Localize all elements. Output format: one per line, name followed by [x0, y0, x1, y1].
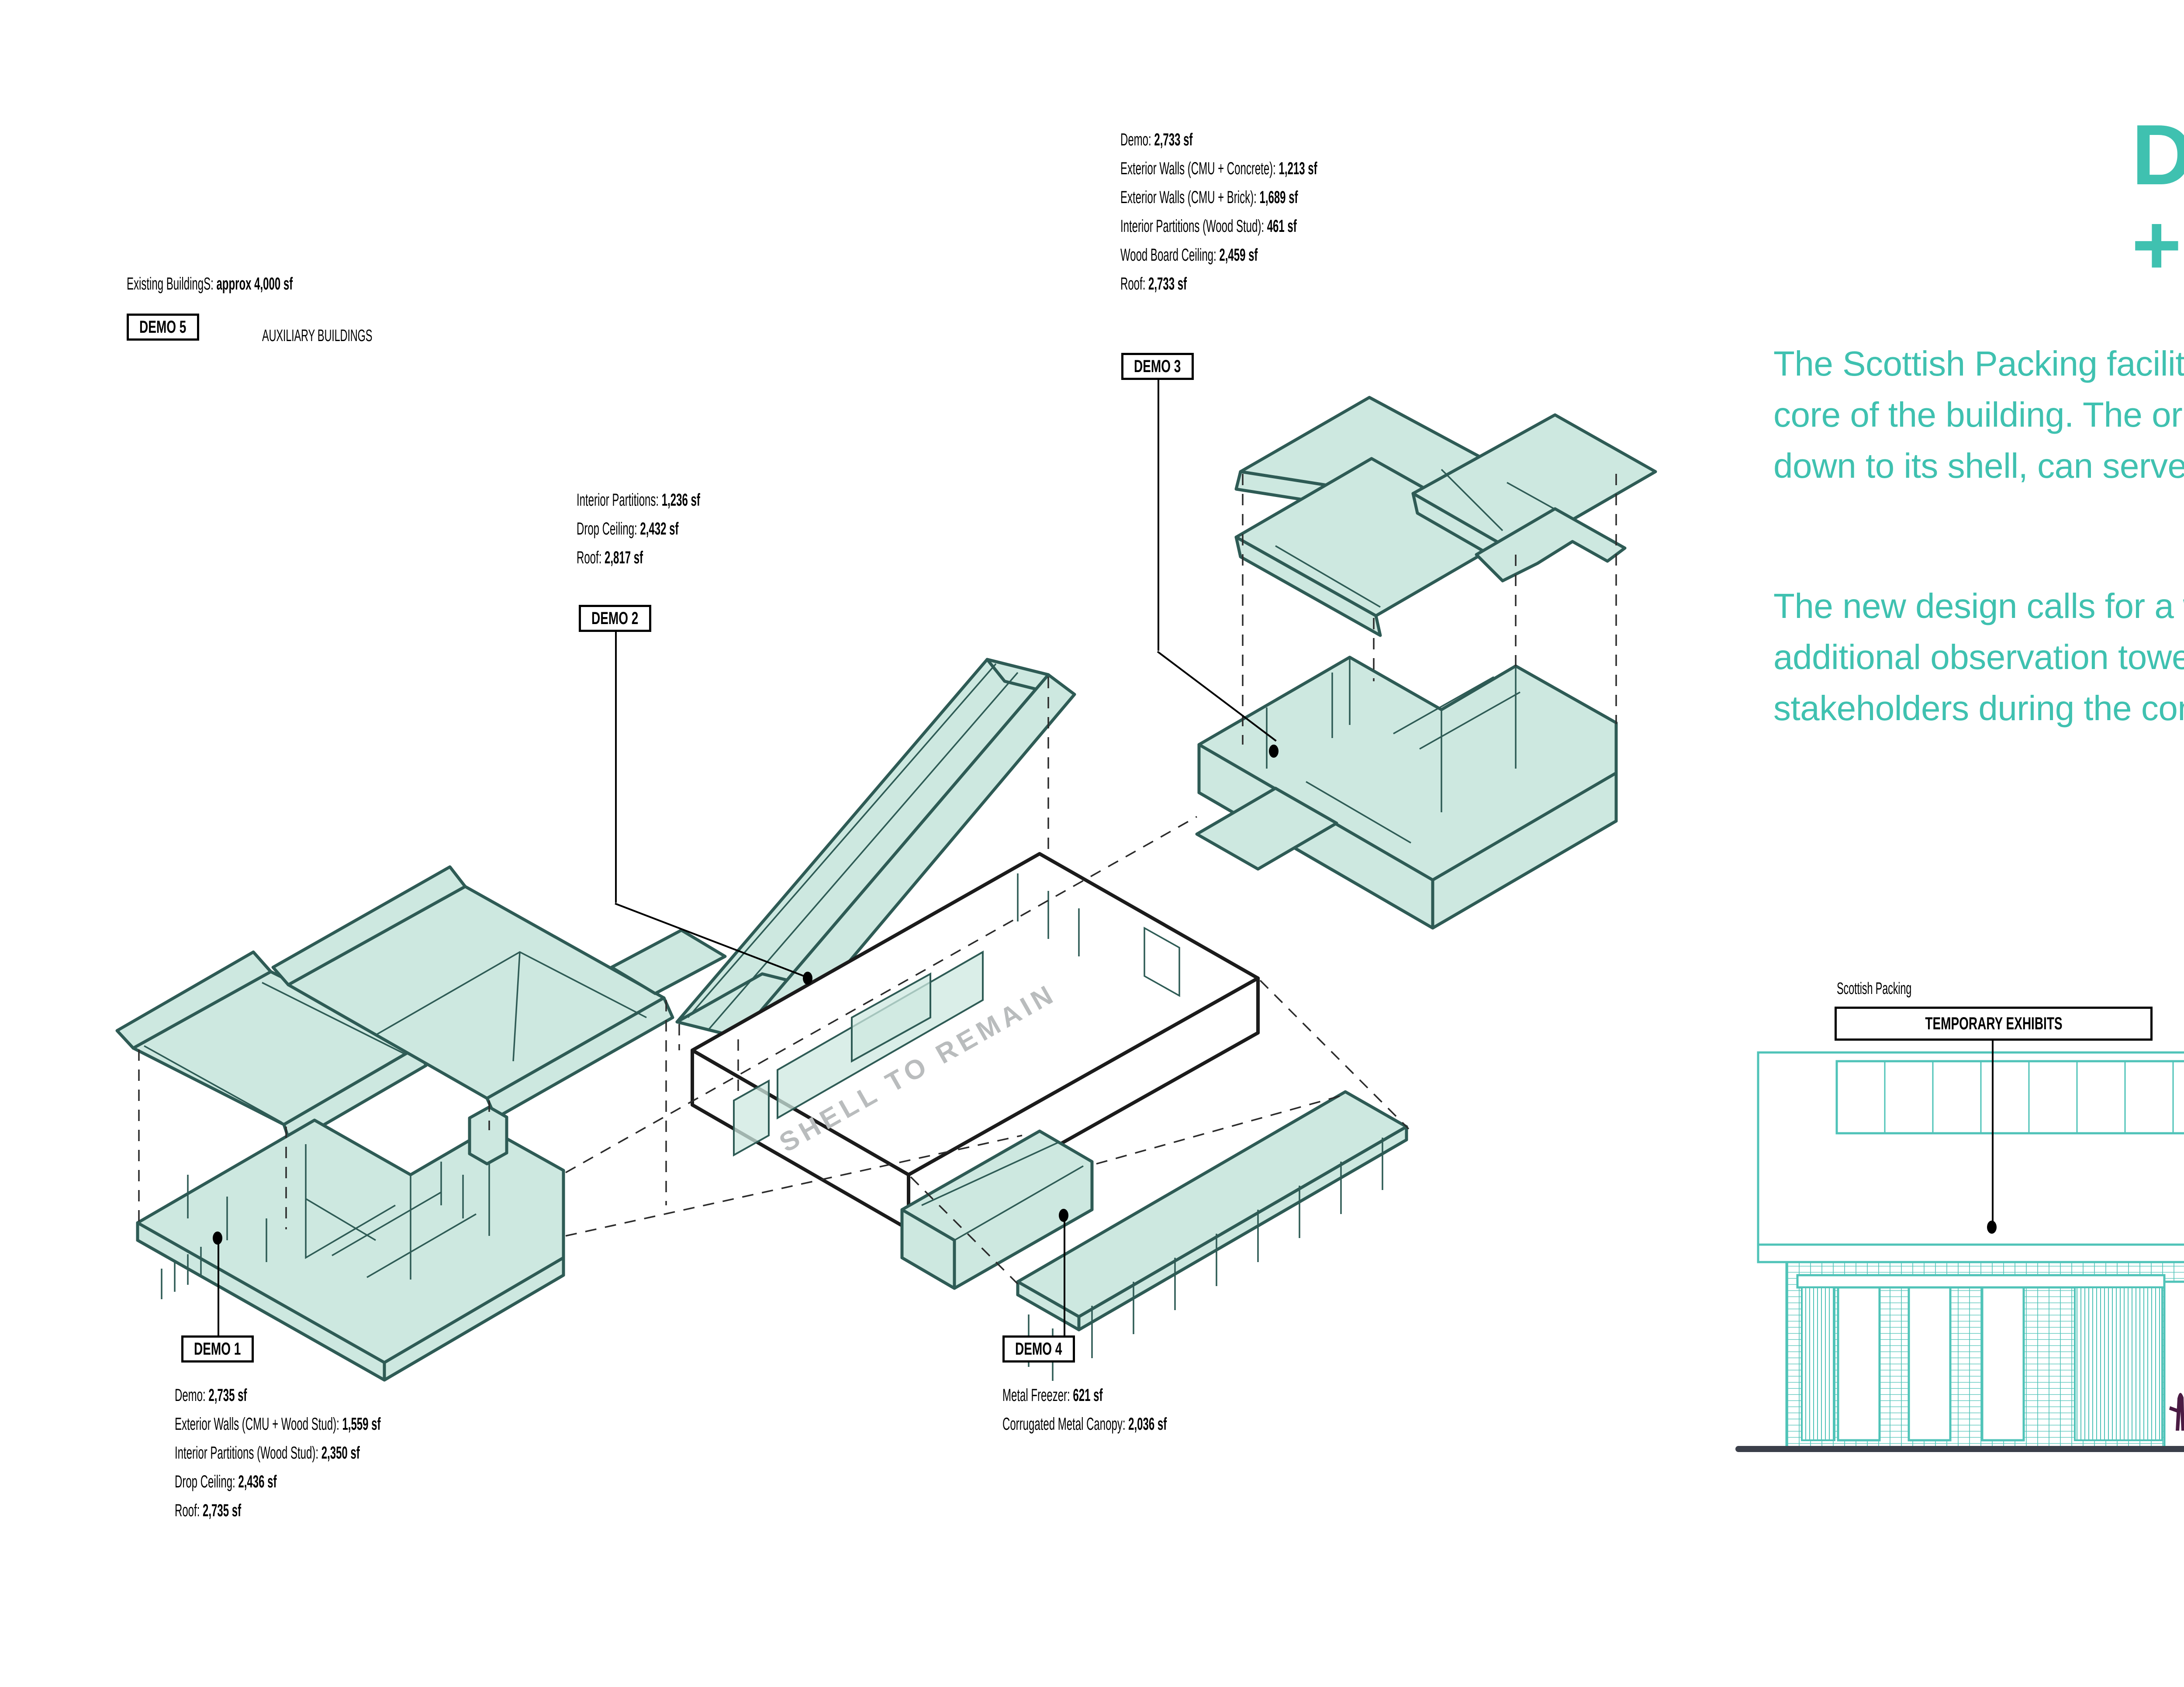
demo3-spec-value: 2,733 sf [1154, 130, 1192, 149]
demo1-tag[interactable]: DEMO 1 [181, 1335, 254, 1363]
demo1-leader-vertical [218, 1242, 219, 1336]
demo4-spec-row: Metal Freezer: 621 sf [1002, 1387, 1167, 1404]
demo5-tag[interactable]: DEMO 5 [127, 314, 199, 341]
demo2-spec-row: Drop Ceiling: 2,432 sf [577, 520, 700, 538]
demo3-spec-label: Wood Board Ceiling: [1120, 245, 1216, 265]
demo2-spec-label: Interior Partitions: [577, 490, 659, 510]
demo2-spec-row: Roof: 2,817 sf [577, 549, 700, 566]
demo5-existing-label: Existing BuildingS: [127, 274, 214, 293]
demo2-spec-value: 2,817 sf [605, 548, 643, 567]
demo1-leader-dot [213, 1232, 222, 1245]
demo1-spec-label: Roof: [175, 1501, 200, 1520]
design-paragraph-part-1: The new design calls for a [1773, 586, 2183, 625]
demo3-spec-row: Wood Board Ceiling: 2,459 sf [1120, 246, 1317, 264]
demo4-tag[interactable]: DEMO 4 [1002, 1335, 1075, 1363]
callout-sub-scottish-packing-top: Scottish Packing [1837, 980, 1911, 997]
demo2-annotation: Interior Partitions: 1,236 sf Drop Ceili… [577, 491, 782, 578]
presentation-board: .f{fill:#CDE8E0;stroke:#2E5B55;stroke-wi… [0, 0, 2184, 1687]
demo1-spec-label: Interior Partitions (Wood Stud): [175, 1443, 318, 1463]
demo2-spec-label: Roof: [577, 548, 601, 567]
demo3-spec-row: Roof: 2,733 sf [1120, 275, 1317, 293]
demo5-existing-line: Existing BuildingS: approx 4,000 sf [127, 275, 293, 293]
callout-temporary-exhibits[interactable]: TEMPORARY EXHIBITS [1835, 1007, 2153, 1041]
demo3-spec-value: 2,459 sf [1219, 245, 1258, 265]
callout-temporary-exhibits-dot [1987, 1221, 1997, 1234]
demo4-annotation: Metal Freezer: 621 sf Corrugated Metal C… [1002, 1387, 1276, 1444]
callout-temporary-exhibits-leader [1992, 1041, 1994, 1228]
scottish-packing-building [1758, 1052, 2184, 1450]
demo4-leader-vertical [1064, 1218, 1065, 1335]
demo4-spec-label: Corrugated Metal Canopy: [1002, 1414, 1125, 1434]
demo4-spec-row: Corrugated Metal Canopy: 2,036 sf [1002, 1415, 1167, 1433]
demo3-spec-row: Exterior Walls (CMU + Concrete): 1,213 s… [1120, 160, 1317, 177]
demo2-leader-vertical [615, 632, 617, 903]
demo1-tag-label: DEMO 1 [194, 1339, 241, 1359]
demo2-spec-row: Interior Partitions: 1,236 sf [577, 491, 700, 509]
demo3-tag-label: DEMO 3 [1134, 357, 1181, 376]
demo2-spec-value: 2,432 sf [640, 519, 678, 538]
site-section-elevation: .tl{fill:none;stroke:#4FC3B8;stroke-widt… [1725, 808, 2184, 1463]
demo1-spec-row: Interior Partitions (Wood Stud): 2,350 s… [175, 1444, 381, 1462]
demo3-spec-label: Exterior Walls (CMU + Brick): [1120, 188, 1257, 207]
demo4-leader-dot [1059, 1209, 1068, 1222]
demo1-spec-row: Demo: 2,735 sf [175, 1387, 381, 1404]
demo1-spec-value: 2,350 sf [321, 1443, 360, 1463]
demo5-roof-cluster [117, 867, 725, 1144]
demo5-existing-value: approx 4,000 sf [216, 274, 293, 293]
demo5-annotation: Existing BuildingS: approx 4,000 sf [127, 275, 404, 304]
demo3-spec-value: 1,689 sf [1259, 188, 1298, 207]
demo4-spec-label: Metal Freezer: [1002, 1386, 1070, 1405]
demo1-spec-label: Exterior Walls (CMU + Wood Stud): [175, 1414, 339, 1434]
demo1-annotation: Demo: 2,735 sf Exterior Walls (CMU + Woo… [175, 1387, 518, 1531]
demo1-spec-value: 2,436 sf [238, 1472, 276, 1491]
demo2-leader-dot [803, 972, 812, 985]
demo3-annotation: Demo: 2,733 sf Exterior Walls (CMU + Con… [1120, 131, 1448, 304]
demo3-spec-row: Interior Partitions (Wood Stud): 461 sf [1120, 217, 1317, 235]
demo4-spec-value: 2,036 sf [1128, 1414, 1167, 1434]
demo1-spec-row: Roof: 2,735 sf [175, 1502, 381, 1519]
demo2-tag-label: DEMO 2 [591, 609, 638, 628]
demo3-spec-value: 1,213 sf [1279, 159, 1317, 178]
title-line-2: + RECONSTRUCTION [2132, 201, 2184, 289]
demo3-spec-row: Exterior Walls (CMU + Brick): 1,689 sf [1120, 189, 1317, 206]
demo3-building-mass [1197, 657, 1616, 928]
demo5-tag-label: DEMO 5 [139, 317, 186, 337]
demo4-spec-value: 621 sf [1073, 1386, 1102, 1405]
demo4-tag-label: DEMO 4 [1015, 1339, 1062, 1359]
demo1-spec-label: Drop Ceiling: [175, 1472, 235, 1491]
title-line-1: DECONSTRUCTION [2132, 107, 2184, 203]
intro-paragraph: The Scottish Packing facilities consist … [1773, 338, 2184, 491]
demo3-roof-cluster [1236, 397, 1655, 635]
demo1-spec-value: 1,559 sf [342, 1414, 380, 1434]
demo1-spec-value: 2,735 sf [203, 1501, 241, 1520]
demo1-spec-value: 2,735 sf [208, 1386, 247, 1405]
design-paragraph: The new design calls for a wet flood-pro… [1773, 581, 2184, 734]
demo3-spec-value: 461 sf [1267, 217, 1297, 236]
demo3-leader-dot [1269, 745, 1279, 758]
demo2-spec-value: 1,236 sf [662, 490, 700, 510]
demo3-tag[interactable]: DEMO 3 [1121, 353, 1194, 380]
page-title: DECONSTRUCTION + RECONSTRUCTION [2132, 111, 2184, 289]
demo3-spec-label: Roof: [1120, 274, 1145, 293]
demo1-spec-row: Drop Ceiling: 2,436 sf [175, 1473, 381, 1490]
demo3-leader-vertical [1158, 380, 1159, 651]
demo3-spec-label: Demo: [1120, 130, 1151, 149]
demo1-spec-row: Exterior Walls (CMU + Wood Stud): 1,559 … [175, 1415, 381, 1433]
callout-temporary-exhibits-label: TEMPORARY EXHIBITS [1925, 1014, 2062, 1034]
demo1-spec-label: Demo: [175, 1386, 206, 1405]
demo5-caption: AUXILIARY BUILDINGS [262, 328, 372, 344]
demo2-tag[interactable]: DEMO 2 [579, 605, 651, 632]
demo2-spec-label: Drop Ceiling: [577, 519, 637, 538]
demo3-spec-value: 2,733 sf [1148, 274, 1187, 293]
demo3-spec-label: Exterior Walls (CMU + Concrete): [1120, 159, 1276, 178]
demo3-spec-row: Demo: 2,733 sf [1120, 131, 1317, 148]
demo3-spec-label: Interior Partitions (Wood Stud): [1120, 217, 1264, 236]
